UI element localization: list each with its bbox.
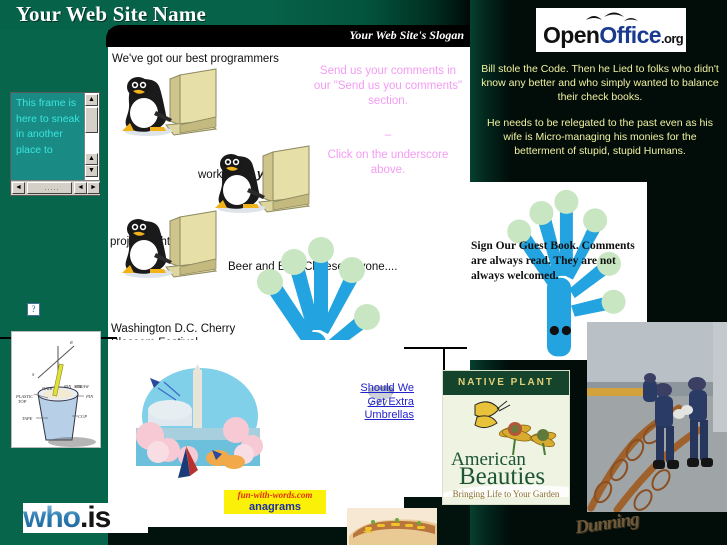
svg-text:PIN: PIN	[85, 394, 94, 399]
page-root: Your Web Site Name Your Web Site's Sloga…	[0, 0, 727, 545]
comments-block: Send us your comments in our "Send us yo…	[313, 64, 463, 178]
svg-text:PIN: PIN	[63, 384, 72, 389]
slogan-banner: Your Web Site's Slogan	[106, 25, 470, 47]
horizontal-scrollbar[interactable]: ◄ ◄ ►	[11, 180, 100, 195]
broken-image-icon[interactable]: ?	[27, 303, 40, 316]
oo-office-text: Office	[599, 22, 661, 48]
scroll-down-button[interactable]: ▼	[85, 165, 98, 177]
native-plant-tagline: Bringing Life to Your Garden	[443, 489, 569, 500]
scroll-grip-icon	[44, 188, 58, 192]
cherry-blossom-image	[128, 358, 268, 493]
oo-open-text: Open	[543, 22, 599, 48]
anagram-label: anagrams	[224, 501, 326, 513]
vertical-scroll-thumb[interactable]	[85, 107, 98, 133]
oo-org-text: .org	[661, 31, 683, 46]
scroll-left-button[interactable]: ◄	[12, 182, 25, 194]
inner-iframe[interactable]: This frame is here to sneak in another p…	[10, 92, 100, 196]
openoffice-wordmark: OpenOffice.org	[543, 22, 683, 49]
programmers-text: We've got our best programmers	[112, 52, 279, 66]
scroll-up-button-2[interactable]: ▲	[85, 153, 98, 165]
scroll-left-button-2[interactable]: ◄	[74, 182, 87, 194]
horizontal-scroll-thumb[interactable]	[27, 182, 72, 194]
svg-text:STR: STR	[74, 384, 82, 389]
oo-paragraph-1: Bill stole the Code. Then he Lied to fol…	[480, 62, 720, 104]
whois-dotis-text: .is	[80, 501, 110, 534]
scroll-up-button[interactable]: ▲	[85, 94, 98, 106]
cup-diagram-image: R S STRAW HAIR PLASTIC TOP PIN PIN STR T…	[11, 331, 101, 448]
openoffice-commentary: Bill stole the Code. Then he Lied to fol…	[480, 62, 720, 170]
svg-text:R: R	[69, 340, 73, 345]
anagram-site: fun-with-words.com	[224, 490, 326, 501]
hotdog-image	[347, 508, 437, 545]
svg-text:TOP: TOP	[18, 399, 27, 404]
anagram-banner[interactable]: fun-with-words.com anagrams	[224, 490, 326, 514]
svg-text:CUP: CUP	[78, 414, 87, 419]
tux-computer-icon-3	[120, 207, 220, 288]
inner-frame-text: This frame is here to sneak in another p…	[11, 93, 85, 180]
slogan-text: Your Web Site's Slogan	[349, 28, 464, 43]
oo-paragraph-2: He needs to be relegated to the past eve…	[480, 116, 720, 158]
underscore-link[interactable]: _	[313, 123, 463, 138]
chain-sailors-photo	[587, 322, 727, 512]
scroll-right-button[interactable]: ►	[87, 182, 100, 194]
comments-line-2: Click on the underscore above.	[328, 149, 449, 176]
comments-line-1: Send us your comments in our "Send us yo…	[314, 65, 462, 107]
svg-text:TAPE: TAPE	[22, 416, 33, 421]
page-title: Your Web Site Name	[16, 2, 206, 27]
native-plant-banner[interactable]: NATIVE PLANT American Beauties	[443, 371, 569, 504]
vertical-scrollbar[interactable]: ▲ ▲ ▼	[84, 93, 99, 180]
whois-logo[interactable]: who.is	[23, 503, 148, 533]
tux-computer-icon-2	[213, 142, 313, 223]
tux-computer-icon-1	[120, 65, 220, 146]
guestbook-text: Sign Our Guest Book. Comments are always…	[471, 239, 646, 284]
native-plant-header: NATIVE PLANT	[443, 371, 569, 395]
svg-text:HAIR: HAIR	[41, 386, 52, 391]
whois-who-text: who	[23, 501, 80, 534]
umbrella-link[interactable]: Should We Get Extra Umbrellas	[356, 382, 414, 423]
openoffice-logo[interactable]: OpenOffice.org	[536, 8, 686, 52]
